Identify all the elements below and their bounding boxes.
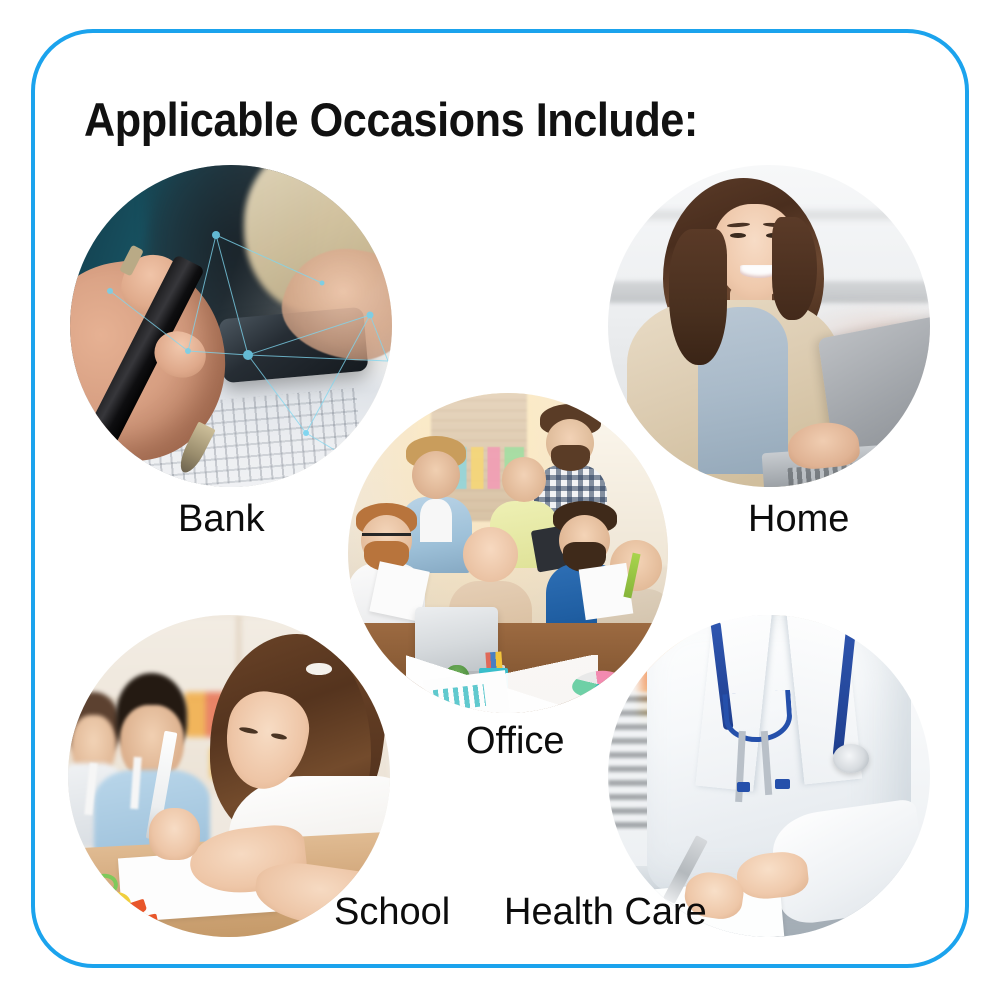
health-care-stethoscope-clip-left: [737, 782, 750, 792]
office-person-denim: [412, 451, 460, 499]
office-person-yellow: [502, 457, 547, 502]
school-girl-hair-tie: [306, 663, 332, 674]
occasion-label-home: Home: [748, 500, 849, 538]
occasion-label-health-care: Health Care: [504, 893, 707, 931]
health-care-scene: [608, 615, 930, 937]
bank-scene: [70, 165, 392, 487]
poster-canvas: Applicable Occasions Include:: [0, 0, 1000, 1000]
office-person-denim-tshirt: [420, 499, 453, 542]
office-person-glasses: [361, 515, 412, 566]
office-person-plaid-beard: [551, 445, 589, 472]
office-person-blue-sweater: [559, 515, 610, 566]
health-care-stethoscope-clip-right: [775, 779, 789, 789]
office-person-plaid: [546, 419, 594, 467]
home-woman-eye-left: [730, 233, 746, 238]
occasion-photo-school: [68, 615, 390, 937]
home-woman-hair-front-left: [669, 229, 727, 364]
page-title: Applicable Occasions Include:: [84, 92, 698, 147]
health-care-stethoscope-chestpiece: [833, 744, 868, 773]
bank-network-overlay: [70, 165, 392, 487]
office-person-center: [463, 527, 517, 581]
home-woman-hair-front-right: [772, 217, 817, 320]
school-girl-hand: [149, 808, 201, 860]
school-scene: [68, 615, 390, 937]
office-person-center-head: [463, 527, 517, 581]
occasion-photo-health-care: [608, 615, 930, 937]
occasion-label-school: School: [334, 893, 450, 931]
occasion-label-bank: Bank: [178, 500, 265, 538]
occasion-label-office: Office: [466, 722, 565, 760]
occasion-photo-bank: [70, 165, 392, 487]
office-person-glasses-eyewear: [362, 533, 411, 545]
office-person-yellow-head: [502, 457, 547, 502]
office-person-denim-head: [412, 451, 460, 499]
